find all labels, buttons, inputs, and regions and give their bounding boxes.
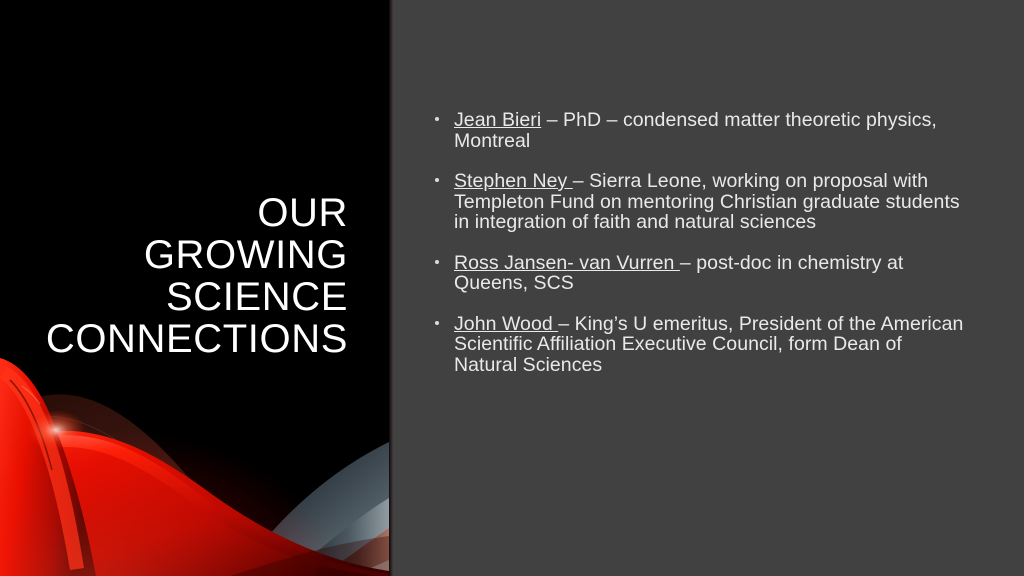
list-item: Ross Jansen- van Vurren – post-doc in ch… [425,253,970,294]
title-panel: Our Growing Science Connections [0,0,389,576]
bullet-marker-icon [435,117,439,121]
panel-divider [389,0,393,576]
bullet-marker-icon [435,321,439,325]
bullet-marker-icon [435,260,439,264]
list-item: John Wood – King’s U emeritus, President… [425,314,970,376]
list-item: Stephen Ney – Sierra Leone, working on p… [425,171,970,233]
bullet-list: Jean Bieri – PhD – condensed matter theo… [425,110,970,375]
list-item-name: Stephen Ney [454,170,573,192]
page-title: Our Growing Science Connections [0,192,348,360]
bullet-marker-icon [435,178,439,182]
list-item: Jean Bieri – PhD – condensed matter theo… [425,110,970,151]
content-panel: Jean Bieri – PhD – condensed matter theo… [389,0,1024,576]
red-curved-sails-image [0,346,389,576]
title-line-1: Our [0,192,348,234]
list-item-name: Ross Jansen- van Vurren [454,252,680,274]
list-item-name: Jean Bieri [454,109,541,131]
title-line-4: Connections [0,318,348,360]
slide: Our Growing Science Connections Jean Bie… [0,0,1024,576]
title-line-2: Growing [0,234,348,276]
red-curved-sails-graphic [0,346,389,576]
title-line-3: Science [0,276,348,318]
list-item-name: John Wood [454,313,558,335]
